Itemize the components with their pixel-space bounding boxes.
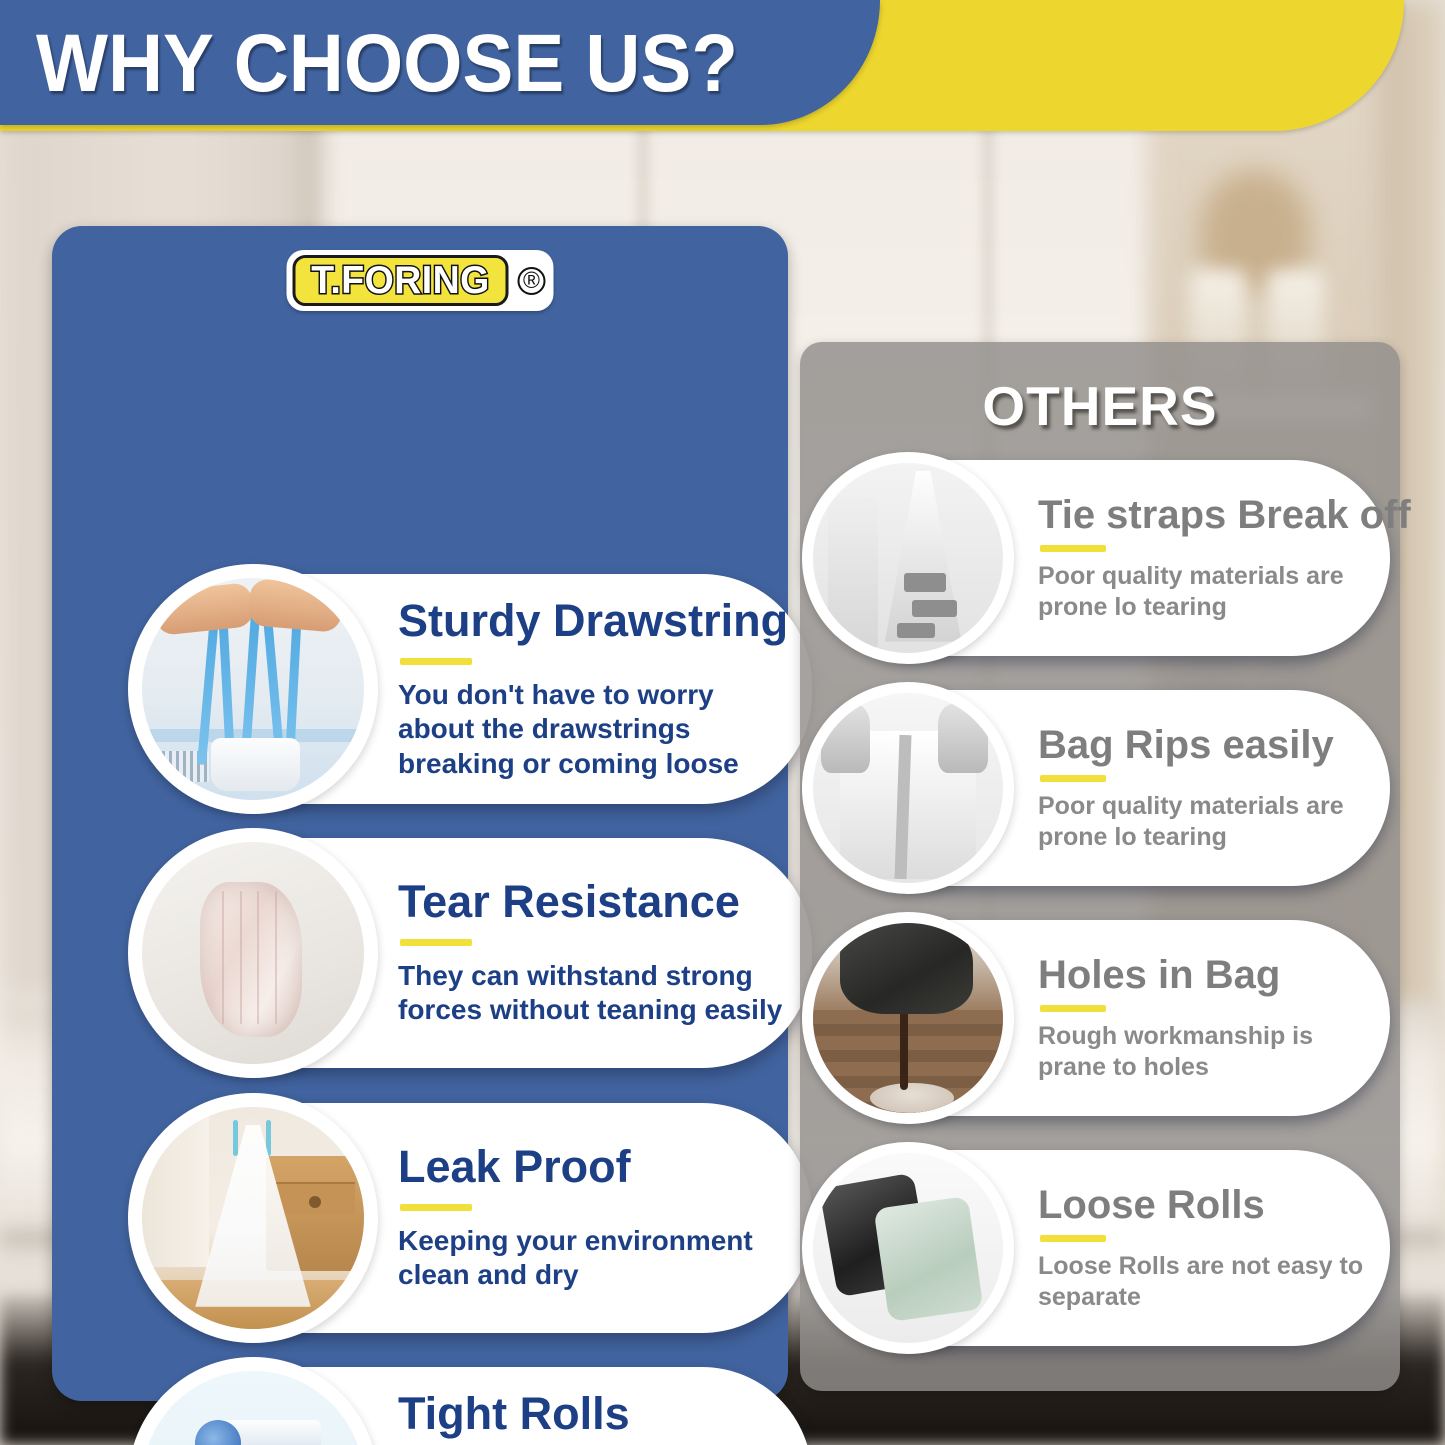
drawback-title: Loose Rolls (1038, 1184, 1378, 1226)
two-loose-bag-rolls-photo (813, 1153, 1003, 1343)
drawback-text: Tie straps Break off Poor quality materi… (1038, 494, 1378, 623)
drawback-card-holes-in-bag[interactable]: Holes in Bag Rough workmanship is prane … (820, 920, 1390, 1116)
drawback-card-tie-straps-break-off[interactable]: Tie straps Break off Poor quality materi… (820, 460, 1390, 656)
hands-ripping-bag-grayscale-photo (813, 693, 1003, 883)
drawback-description: Poor quality materials are prone lo tear… (1038, 561, 1378, 623)
drawback-title: Holes in Bag (1038, 954, 1378, 996)
drawback-card-loose-rolls[interactable]: Loose Rolls Loose Rolls are not easy to … (820, 1150, 1390, 1346)
drawback-thumbnail (802, 1142, 1014, 1354)
drawback-text: Holes in Bag Rough workmanship is prane … (1038, 954, 1378, 1083)
drawback-description: Rough workmanship is prane to holes (1038, 1021, 1378, 1083)
drawback-title: Bag Rips easily (1038, 724, 1378, 766)
drawback-text: Loose Rolls Loose Rolls are not easy to … (1038, 1184, 1378, 1313)
drawback-description: Loose Rolls are not easy to separate (1038, 1251, 1378, 1313)
drawback-thumbnail (802, 682, 1014, 894)
accent-rule (1040, 545, 1106, 552)
drawback-thumbnail (802, 912, 1014, 1124)
accent-rule (1040, 775, 1106, 782)
accent-rule (1040, 1235, 1106, 1242)
drawback-thumbnail (802, 452, 1014, 664)
accent-rule (1040, 1005, 1106, 1012)
black-bag-leaking-liquid-photo (813, 923, 1003, 1113)
drawback-description: Poor quality materials are prone lo tear… (1038, 791, 1378, 853)
drawback-title: Tie straps Break off (1038, 494, 1378, 536)
person-carrying-thin-bag-grayscale-photo (813, 463, 1003, 653)
drawback-card-bag-rips-easily[interactable]: Bag Rips easily Poor quality materials a… (820, 690, 1390, 886)
drawback-text: Bag Rips easily Poor quality materials a… (1038, 724, 1378, 853)
